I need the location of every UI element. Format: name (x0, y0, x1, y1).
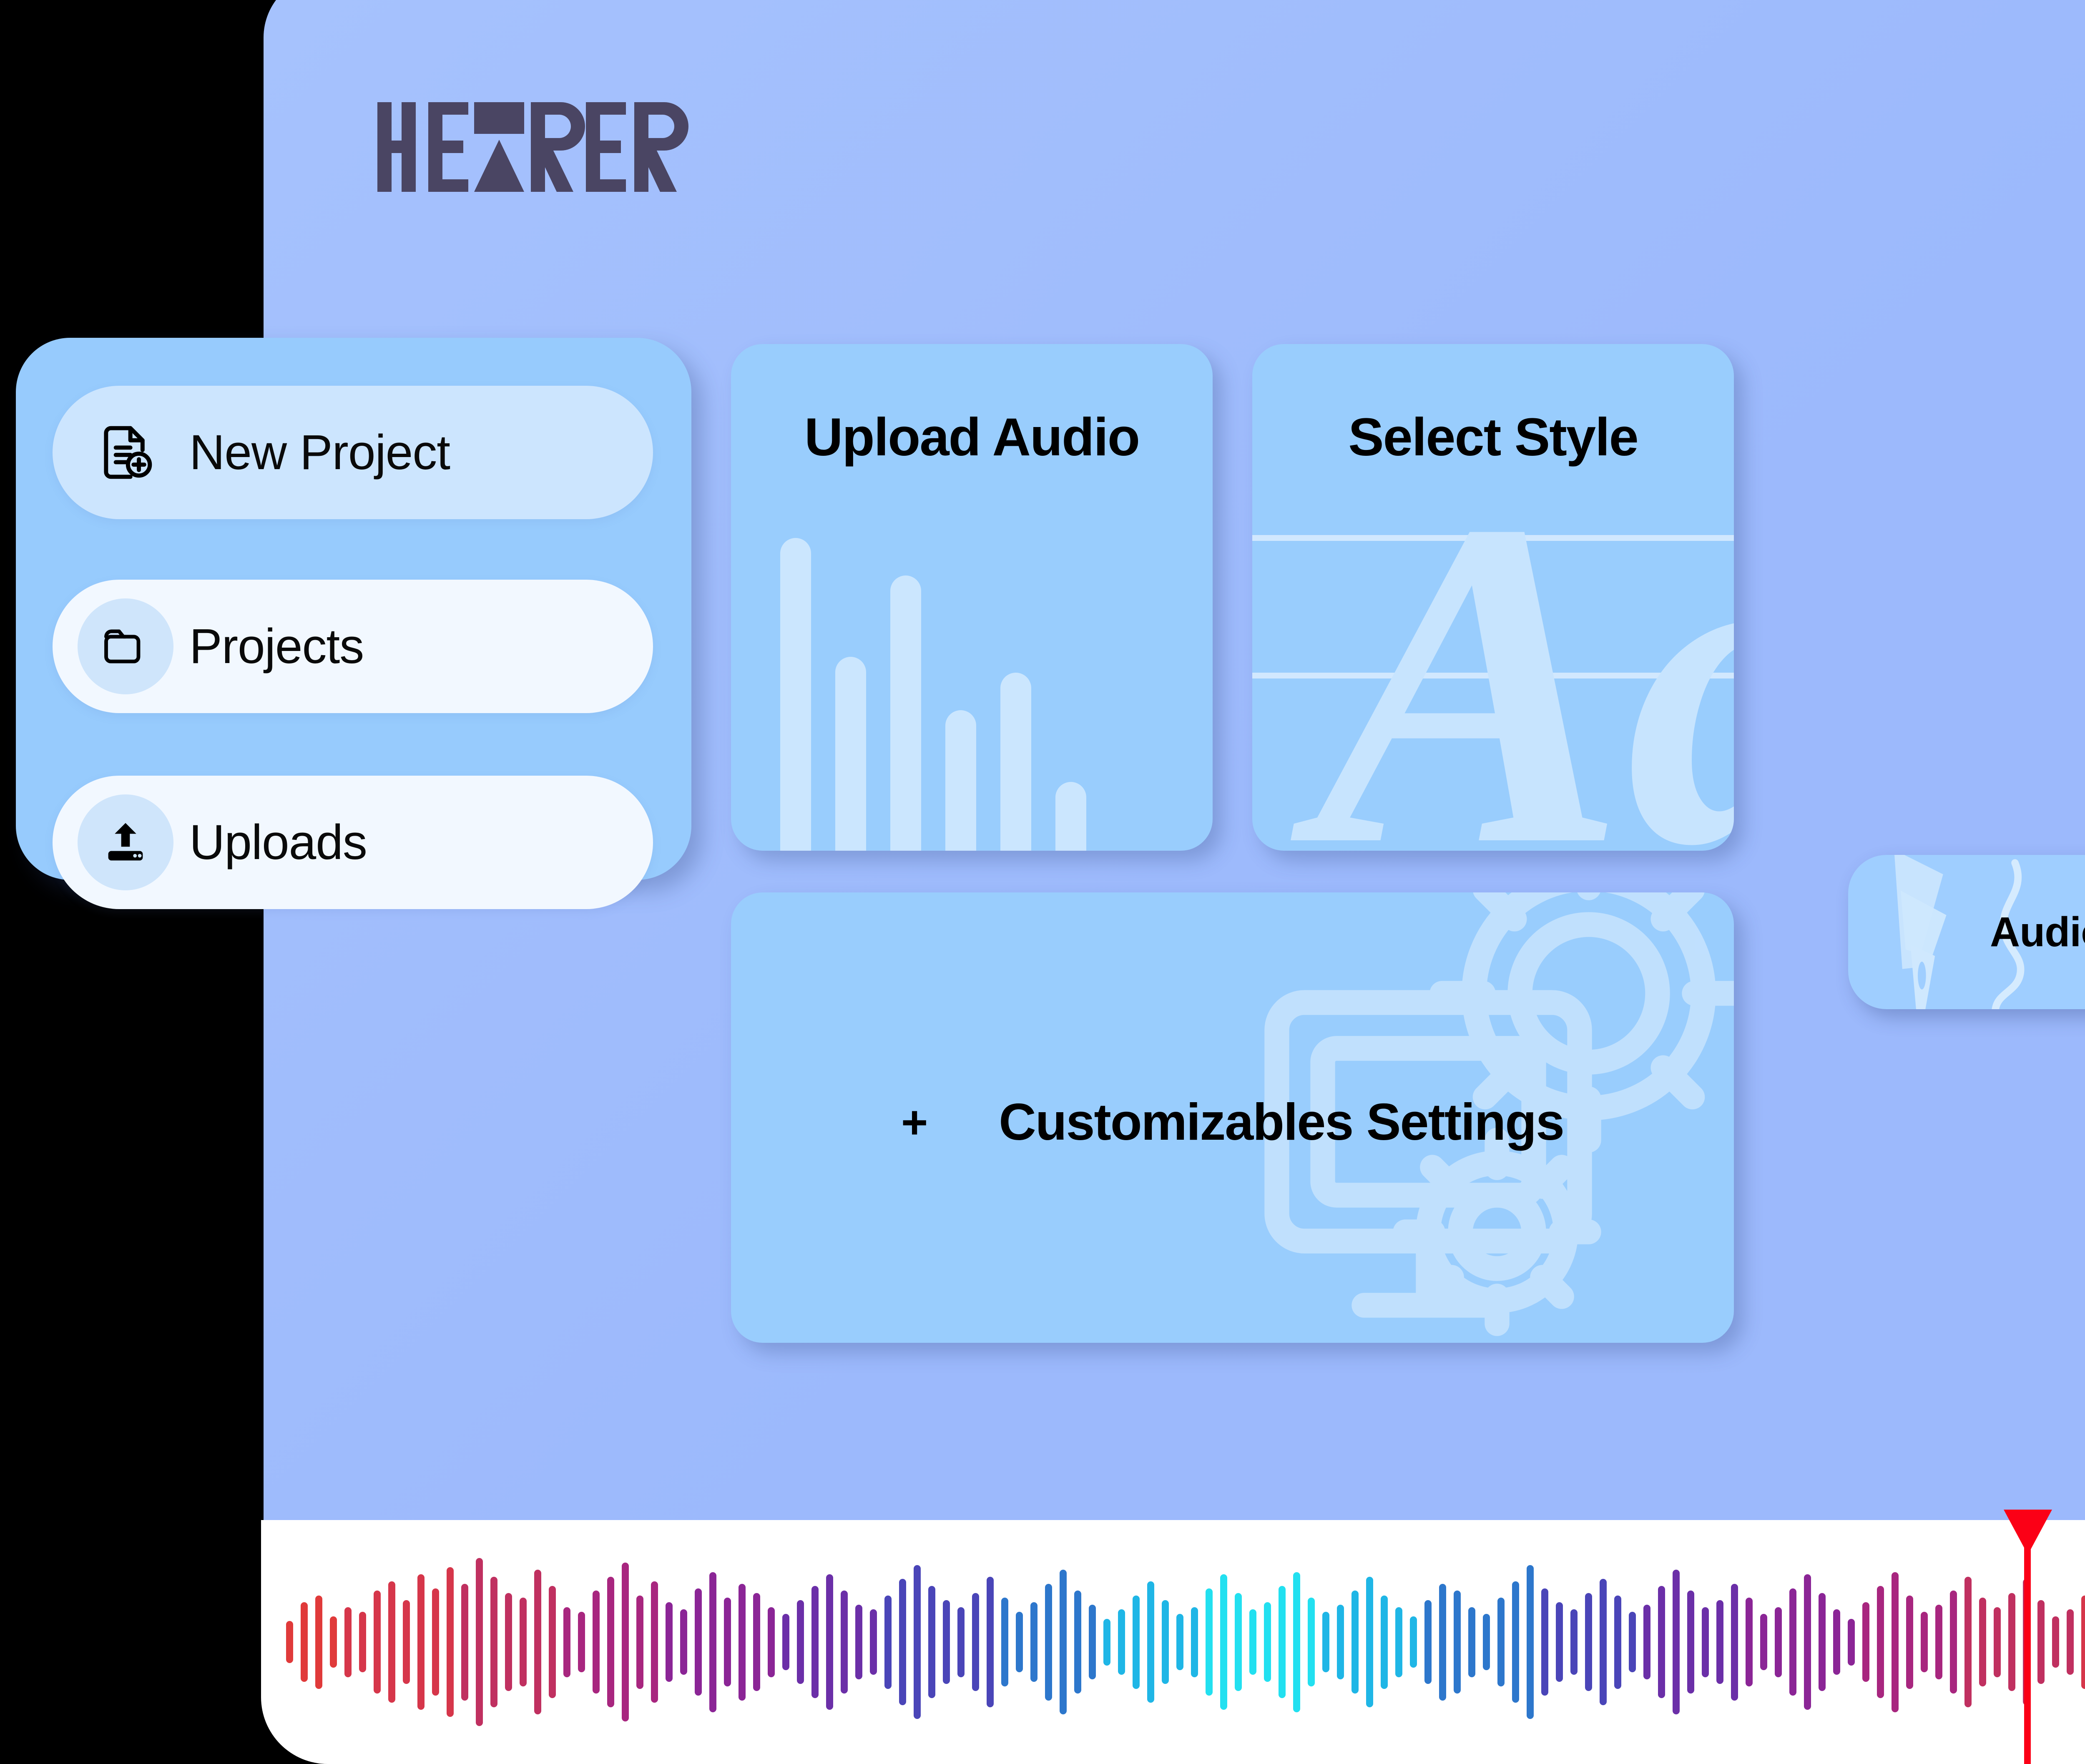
waveform-bar (1366, 1577, 1373, 1708)
waveform-bar (1570, 1609, 1578, 1675)
waveform-bar (2052, 1616, 2059, 1668)
audio-bars-icon (780, 538, 1188, 851)
waveform-bar (1424, 1600, 1432, 1684)
waveform-bar (680, 1609, 687, 1675)
waveform-bar (1702, 1607, 1709, 1677)
waveform-bar (899, 1579, 906, 1705)
audio-bar (780, 538, 811, 851)
waveform-bar (1264, 1602, 1271, 1681)
sidebar: New Project Projects Uploads (16, 338, 691, 880)
waveform-bar (1103, 1619, 1110, 1666)
waveform-bar (811, 1586, 819, 1698)
waveform-bar (739, 1584, 746, 1701)
waveform-bar (1001, 1598, 1008, 1686)
waveform-bar (841, 1591, 848, 1693)
folder-icon (78, 598, 173, 694)
waveform-bar (1906, 1596, 1913, 1689)
waveform-bar (388, 1581, 395, 1703)
card-upload-audio[interactable]: Upload Audio (731, 344, 1213, 851)
waveform-bar (549, 1586, 556, 1698)
waveform-bar (1293, 1572, 1300, 1712)
waveform-bar (1147, 1581, 1154, 1703)
card-select-style[interactable]: Select Style Aa (1252, 344, 1734, 851)
audio-bar (1055, 782, 1086, 851)
waveform-bar (1089, 1605, 1096, 1679)
waveform-bar (709, 1572, 716, 1712)
card-customizable-settings[interactable]: + Customizables Settings (731, 892, 1734, 1343)
waveform-bar (1731, 1584, 1738, 1701)
waveform-bar (1016, 1612, 1023, 1673)
waveform-bar (768, 1607, 775, 1677)
waveform-bar (1804, 1574, 1811, 1710)
waveform-bar (1964, 1577, 1972, 1708)
waveform-bar (593, 1591, 600, 1693)
waveform-bar (1045, 1584, 1052, 1701)
svg-text:Aa: Aa (1286, 482, 1734, 851)
waveform-bar (1497, 1598, 1505, 1686)
waveform-bar (1673, 1570, 1680, 1714)
waveform-bar (1892, 1572, 1899, 1712)
waveform-bar (286, 1621, 293, 1663)
waveform-bar (1629, 1612, 1636, 1673)
sidebar-item-new-project[interactable]: New Project (53, 386, 653, 519)
waveform-bar (2081, 1596, 2085, 1689)
waveform-bar (520, 1598, 527, 1686)
audio-bar (890, 575, 921, 851)
waveform-bar (1687, 1591, 1694, 1693)
waveform-bar (1600, 1579, 1607, 1705)
waveform-bar (1279, 1586, 1286, 1698)
waveform-bar (578, 1612, 585, 1673)
waveform-bar (1760, 1614, 1767, 1670)
waveform-bar (1206, 1588, 1213, 1696)
waveform-bar (782, 1614, 789, 1670)
waveform-bar (1994, 1607, 2001, 1677)
waveform-bar (1308, 1598, 1315, 1686)
waveform-bar (1746, 1598, 1753, 1686)
waveform-bar (1030, 1602, 1037, 1681)
waveform-bar (1877, 1586, 1884, 1698)
waveform-bar (870, 1609, 877, 1675)
brand-logo (377, 102, 703, 192)
waveform-bar (1585, 1593, 1592, 1691)
waveform-bar (534, 1570, 541, 1714)
waveform-bar (855, 1605, 862, 1679)
waveform-bar (1322, 1612, 1329, 1673)
waveform-bar (622, 1563, 629, 1721)
waveform-bar (344, 1607, 352, 1677)
waveform-bar (695, 1588, 702, 1696)
waveform-bar (928, 1586, 935, 1698)
waveform-bar (972, 1593, 979, 1691)
waveform-bar (1833, 1609, 1840, 1675)
waveform-bar (1381, 1596, 1388, 1689)
waveform-bar (1176, 1614, 1183, 1670)
waveform-bar (1862, 1602, 1869, 1681)
waveform-bar (1337, 1605, 1344, 1679)
waveform-bar (403, 1600, 410, 1684)
audio-to-notes-label: Audio To Notes (1990, 908, 2085, 956)
waveform-bar (490, 1577, 497, 1708)
waveform-bar (1556, 1602, 1563, 1681)
waveform-bar (943, 1600, 950, 1684)
waveform-bar (563, 1607, 570, 1677)
sidebar-item-label: Uploads (189, 814, 367, 871)
waveform-bar (666, 1602, 673, 1681)
card-title: Upload Audio (731, 407, 1213, 468)
card-title: Customizables Settings (999, 1093, 1564, 1152)
waveform-bar (1060, 1570, 1067, 1714)
waveform-bar (636, 1596, 643, 1689)
waveform-bar (1775, 1607, 1782, 1677)
waveform-bar (753, 1593, 760, 1691)
waveform-bar (1848, 1619, 1855, 1666)
waveform-bar (2008, 1593, 2015, 1691)
waveform-bar (1249, 1609, 1256, 1675)
waveform-bar (1935, 1605, 1942, 1679)
waveform-bar (359, 1612, 366, 1673)
waveform-bar (374, 1591, 381, 1693)
waveform-bar (1483, 1614, 1490, 1670)
waveform-bar (301, 1602, 308, 1681)
waveform-bar (987, 1577, 994, 1708)
waveform-bar (1395, 1607, 1402, 1677)
waveform-bar (1191, 1607, 1198, 1677)
waveform-bar (1074, 1591, 1081, 1693)
waveform-bar (432, 1588, 439, 1696)
waveform-bar (2037, 1600, 2045, 1684)
waveform-bar (724, 1598, 731, 1686)
upload-icon (78, 794, 173, 890)
card-title: Select Style (1252, 407, 1734, 468)
waveform-bar (330, 1616, 337, 1668)
waveform-bar (651, 1581, 658, 1703)
waveform-bar (1541, 1588, 1548, 1696)
waveform-bar (1162, 1600, 1169, 1684)
waveform-bar (476, 1558, 483, 1726)
waveform-bar (1351, 1591, 1359, 1693)
audio-bar (1000, 673, 1031, 851)
waveform-bar (417, 1574, 425, 1710)
sidebar-item-label: Projects (189, 618, 364, 675)
waveform-bar (1220, 1574, 1227, 1710)
waveform-bar (1716, 1600, 1723, 1684)
waveform-bar (461, 1584, 468, 1701)
audio-bar (835, 657, 866, 851)
audio-bar (945, 710, 976, 851)
document-plus-icon (78, 405, 173, 500)
waveform-bar (1921, 1612, 1928, 1673)
waveform-bar (884, 1596, 892, 1689)
waveform-bar (1133, 1596, 1140, 1689)
sidebar-item-label: New Project (189, 424, 450, 481)
waveform-bar (1979, 1598, 1986, 1686)
waveform-bar (447, 1567, 454, 1716)
waveform-bar (1658, 1586, 1665, 1698)
waveform-bar (1235, 1593, 1242, 1691)
waveform-bar (607, 1577, 614, 1708)
aa-script-icon: Aa (1277, 482, 1734, 851)
waveform-bar (505, 1593, 512, 1691)
waveform-bar (1527, 1565, 1534, 1719)
waveform-bar (1512, 1581, 1519, 1703)
audio-to-notes-button[interactable]: Audio To Notes (1848, 855, 2085, 1009)
waveform-bar (914, 1565, 921, 1719)
audio-waveform-player[interactable] (261, 1520, 2085, 1764)
waveform-bar (1468, 1607, 1475, 1677)
playhead-line[interactable] (2024, 1510, 2031, 1764)
waveform-bar (957, 1607, 965, 1677)
waveform-bar (1439, 1584, 1446, 1701)
waveform-bar (826, 1574, 833, 1710)
add-setting-plus[interactable]: + (901, 1096, 928, 1149)
waveform-bars[interactable] (286, 1520, 2085, 1764)
waveform-bar (1454, 1591, 1461, 1693)
waveform-bar (1789, 1588, 1796, 1696)
waveform-bar (1819, 1593, 1826, 1691)
waveform-bar (797, 1600, 804, 1684)
sidebar-item-uploads[interactable]: Uploads (53, 776, 653, 909)
waveform-bar (1614, 1596, 1621, 1689)
waveform-bar (315, 1596, 322, 1689)
waveform-bar (1643, 1605, 1650, 1679)
waveform-bar (1118, 1609, 1125, 1675)
sidebar-item-projects[interactable]: Projects (53, 580, 653, 713)
waveform-bar (1410, 1616, 1417, 1668)
waveform-bar (2067, 1609, 2074, 1675)
waveform-bar (1950, 1591, 1957, 1693)
